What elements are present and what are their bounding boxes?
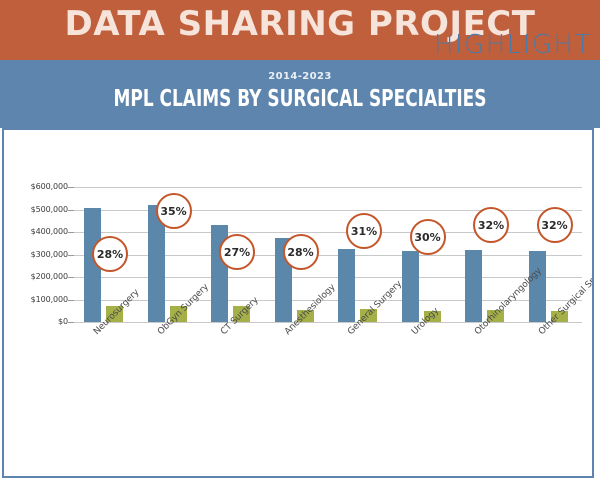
subheader-banner: 2014-2023 MPL CLAIMS BY SURGICAL SPECIAL… [0, 60, 600, 128]
y-axis-tick [68, 255, 74, 256]
y-axis-tick [68, 232, 74, 233]
percent-callout: 27% [219, 234, 255, 270]
y-axis-tick-label: $200,000 [31, 272, 68, 281]
bar-indemnity [529, 251, 546, 322]
bar-indemnity [402, 251, 419, 322]
percent-callout: 28% [283, 234, 319, 270]
y-axis-tick [68, 210, 74, 211]
date-range-label: 2014-2023 [0, 71, 600, 82]
percent-callout: 30% [410, 219, 446, 255]
y-axis-labels: $600,000$500,000$400,000$300,000$200,000… [10, 187, 68, 322]
gridline [74, 322, 582, 323]
gridline [74, 187, 582, 188]
bar-indemnity [465, 250, 482, 322]
chart-title: MPL CLAIMS BY SURGICAL SPECIALTIES [54, 86, 546, 112]
y-axis-tick-label: $600,000 [31, 182, 68, 191]
y-axis-tick-label: $500,000 [31, 205, 68, 214]
percent-callout: 35% [156, 193, 192, 229]
percent-callout: 32% [537, 207, 573, 243]
y-axis-tick-label: $0 [58, 317, 68, 326]
header-banner: DATA SHARING PROJECT HIGHLIGHT [0, 0, 600, 60]
header-highlight-text: HIGHLIGHT [434, 31, 592, 59]
y-axis-tick [68, 187, 74, 188]
bar-indemnity [338, 249, 355, 322]
y-axis-tick-label: $100,000 [31, 295, 68, 304]
y-axis-tick [68, 300, 74, 301]
percent-callout: 31% [346, 213, 382, 249]
percent-callout: 32% [473, 207, 509, 243]
chart-card: $600,000$500,000$400,000$300,000$200,000… [2, 128, 594, 478]
y-axis-tick-label: $300,000 [31, 250, 68, 259]
y-axis-tick-label: $400,000 [31, 227, 68, 236]
percent-callout: 28% [92, 236, 128, 272]
y-axis-tick [68, 277, 74, 278]
y-axis-tick [68, 322, 74, 323]
